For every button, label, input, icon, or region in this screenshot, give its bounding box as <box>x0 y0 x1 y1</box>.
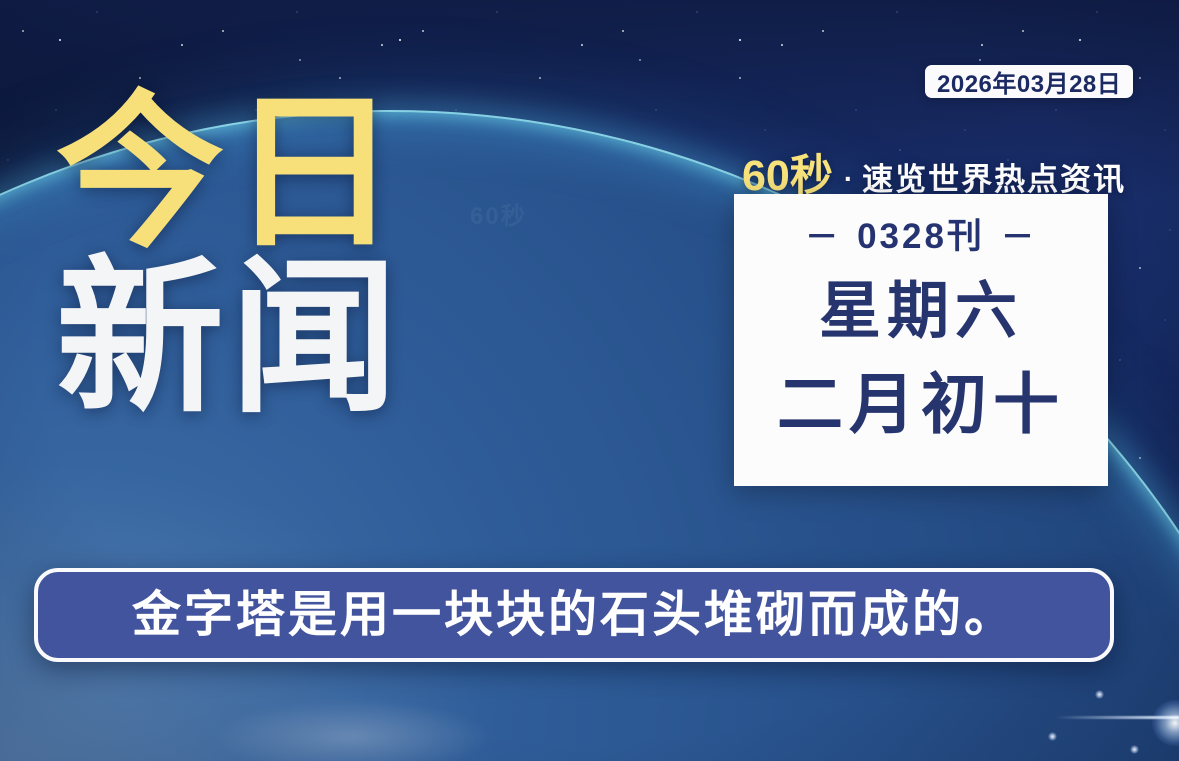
headline-line-today: 今日 <box>56 96 404 251</box>
lunar-date-label: 二月初十 <box>777 371 1065 437</box>
watermark-text: 60秒 <box>470 196 527 231</box>
weekday-label: 星期六 <box>819 281 1023 343</box>
issue-dash-left: － <box>805 210 841 258</box>
issue-line: － 0328刊 － <box>805 208 1037 259</box>
info-card: － 0328刊 － 星期六 二月初十 <box>734 194 1108 486</box>
issue-dash-right: － <box>1001 210 1037 258</box>
tagline-separator: · <box>844 163 853 195</box>
date-badge: 2026年03月28日 <box>925 65 1133 98</box>
issue-number: 0328刊 <box>857 208 985 259</box>
page-title: 今日 新闻 <box>56 96 404 415</box>
star-icon <box>1130 745 1139 754</box>
news-poster: 60秒 今日 新闻 2026年03月28日 60秒 · 速览世界热点资讯 － 0… <box>0 0 1179 761</box>
tagline-text: 速览世界热点资讯 <box>862 154 1126 199</box>
star-icon <box>1048 732 1057 741</box>
star-icon <box>1095 690 1104 699</box>
quote-bar: 金字塔是用一块块的石头堆砌而成的。 <box>34 568 1114 662</box>
quote-text: 金字塔是用一块块的石头堆砌而成的。 <box>132 591 1016 640</box>
headline-line-news: 新闻 <box>56 261 404 416</box>
